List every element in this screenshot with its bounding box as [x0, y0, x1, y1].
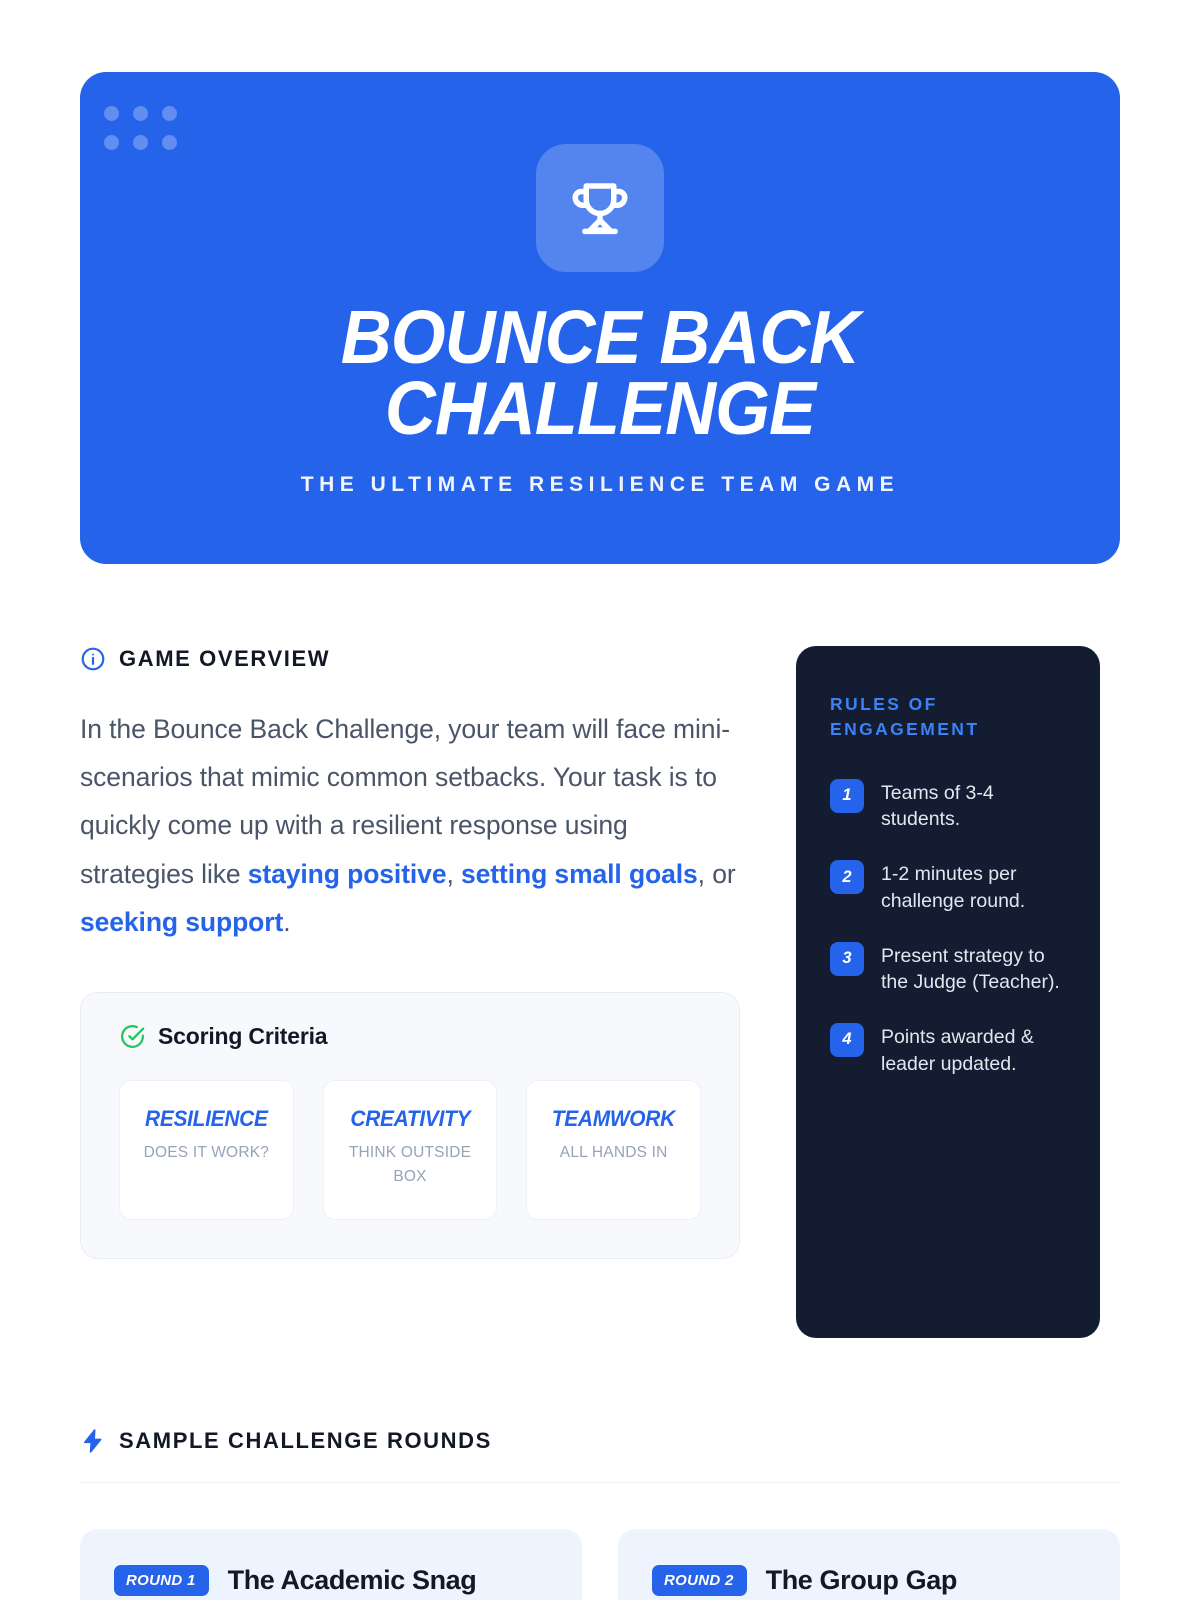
- circle-check-icon: [119, 1023, 146, 1050]
- criterion-card: TEAMWORK ALL HANDS IN: [526, 1080, 701, 1220]
- main-columns: GAME OVERVIEW In the Bounce Back Challen…: [80, 646, 1120, 1338]
- rule-item: 4 Points awarded & leader updated.: [830, 1023, 1066, 1077]
- dot: [104, 106, 119, 121]
- page-root: BOUNCE BACK CHALLENGE THE ULTIMATE RESIL…: [0, 72, 1200, 1600]
- rule-text: Teams of 3-4 students.: [881, 779, 1066, 833]
- rule-text: 1-2 minutes per challenge round.: [881, 860, 1066, 914]
- round-badge: ROUND 2: [652, 1565, 747, 1596]
- game-overview-header: GAME OVERVIEW: [80, 646, 740, 672]
- criterion-subtitle: THINK OUTSIDE BOX: [332, 1141, 489, 1189]
- dot-grid-decoration: [104, 106, 191, 164]
- round-badge: ROUND 1: [114, 1565, 209, 1596]
- overview-text-3: , or: [698, 859, 736, 889]
- criterion-title: RESILIENCE: [132, 1106, 281, 1132]
- sample-rounds-title: SAMPLE CHALLENGE ROUNDS: [119, 1428, 492, 1454]
- info-circle-icon: [80, 646, 106, 672]
- strategy-seeking-support: seeking support: [80, 907, 283, 937]
- dot: [104, 135, 119, 150]
- game-overview-title: GAME OVERVIEW: [119, 646, 330, 672]
- hero-banner: BOUNCE BACK CHALLENGE THE ULTIMATE RESIL…: [80, 72, 1120, 564]
- overview-paragraph: In the Bounce Back Challenge, your team …: [80, 705, 740, 946]
- dot: [162, 106, 177, 121]
- rule-text: Points awarded & leader updated.: [881, 1023, 1066, 1077]
- criterion-card: RESILIENCE DOES IT WORK?: [119, 1080, 294, 1220]
- round-card[interactable]: ROUND 1 The Academic Snag: [80, 1529, 582, 1600]
- strategy-staying-positive: staying positive: [248, 859, 447, 889]
- rule-item: 3 Present strategy to the Judge (Teacher…: [830, 942, 1066, 996]
- scoring-criteria-header: Scoring Criteria: [119, 1023, 701, 1050]
- rule-number-badge: 4: [830, 1023, 864, 1057]
- round-card-header: ROUND 2 The Group Gap: [652, 1565, 1086, 1596]
- scoring-criteria-card: Scoring Criteria RESILIENCE DOES IT WORK…: [80, 992, 740, 1259]
- rules-of-engagement-panel: RULES OF ENGAGEMENT 1 Teams of 3-4 stude…: [796, 646, 1100, 1338]
- rule-text: Present strategy to the Judge (Teacher).: [881, 942, 1066, 996]
- rules-panel-title: RULES OF ENGAGEMENT: [830, 692, 1066, 743]
- rule-number-badge: 2: [830, 860, 864, 894]
- section-divider: [80, 1482, 1120, 1483]
- overview-column: GAME OVERVIEW In the Bounce Back Challen…: [80, 646, 740, 1338]
- round-title: The Group Gap: [766, 1565, 957, 1596]
- dot: [162, 135, 177, 150]
- rule-number-badge: 1: [830, 779, 864, 813]
- hero-subtitle: THE ULTIMATE RESILIENCE TEAM GAME: [301, 473, 899, 497]
- rules-list: 1 Teams of 3-4 students. 2 1-2 minutes p…: [830, 779, 1066, 1078]
- rule-number-badge: 3: [830, 942, 864, 976]
- overview-text-4: .: [283, 907, 290, 937]
- hero-title: BOUNCE BACK CHALLENGE: [243, 302, 957, 443]
- dot: [133, 106, 148, 121]
- round-card-header: ROUND 1 The Academic Snag: [114, 1565, 548, 1596]
- criterion-title: CREATIVITY: [336, 1106, 485, 1132]
- criterion-subtitle: ALL HANDS IN: [535, 1141, 692, 1165]
- round-cards-list: ROUND 1 The Academic Snag ROUND 2 The Gr…: [80, 1529, 1120, 1600]
- criteria-list: RESILIENCE DOES IT WORK? CREATIVITY THIN…: [119, 1080, 701, 1220]
- overview-text-2: ,: [446, 859, 461, 889]
- criterion-card: CREATIVITY THINK OUTSIDE BOX: [323, 1080, 498, 1220]
- round-card[interactable]: ROUND 2 The Group Gap: [618, 1529, 1120, 1600]
- dot: [133, 135, 148, 150]
- criterion-subtitle: DOES IT WORK?: [128, 1141, 285, 1165]
- rules-column: RULES OF ENGAGEMENT 1 Teams of 3-4 stude…: [796, 646, 1100, 1338]
- trophy-icon: [567, 175, 633, 241]
- trophy-icon-badge: [536, 144, 664, 272]
- rule-item: 1 Teams of 3-4 students.: [830, 779, 1066, 833]
- hero-title-line-2: CHALLENGE: [243, 373, 957, 444]
- criterion-title: TEAMWORK: [539, 1106, 688, 1132]
- strategy-setting-small-goals: setting small goals: [461, 859, 698, 889]
- lightning-bolt-icon: [80, 1428, 106, 1454]
- scoring-criteria-title: Scoring Criteria: [158, 1023, 327, 1050]
- sample-rounds-header: SAMPLE CHALLENGE ROUNDS: [80, 1428, 1120, 1454]
- hero-title-line-1: BOUNCE BACK: [243, 302, 957, 373]
- rule-item: 2 1-2 minutes per challenge round.: [830, 860, 1066, 914]
- sample-rounds-section: SAMPLE CHALLENGE ROUNDS ROUND 1 The Acad…: [80, 1428, 1120, 1600]
- round-title: The Academic Snag: [228, 1565, 477, 1596]
